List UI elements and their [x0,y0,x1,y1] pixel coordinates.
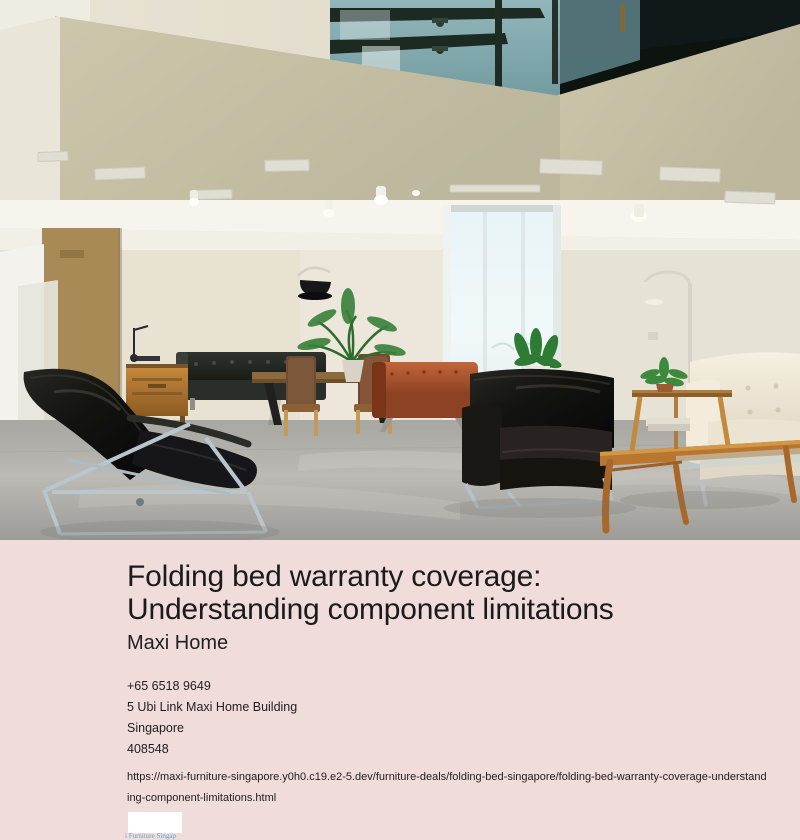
contact-city: Singapore [127,718,747,739]
hero-photo [0,0,800,540]
content-area: Folding bed warranty coverage: Understan… [0,540,800,840]
page-root: Folding bed warranty coverage: Understan… [0,0,800,840]
contact-phone[interactable]: +65 6518 9649 [127,676,747,697]
contact-address: 5 Ubi Link Maxi Home Building [127,697,747,718]
page-url[interactable]: https://maxi-furniture-singapore.y0h0.c1… [127,767,767,809]
showroom-illustration [0,0,800,540]
contact-block: +65 6518 9649 5 Ubi Link Maxi Home Build… [127,676,747,809]
footer-thumbnail-card[interactable] [128,812,182,833]
brand-name: Maxi Home [127,632,228,655]
footer-thumbnail-caption: i Furniture Singap [125,832,195,840]
contact-postal-code: 408548 [127,739,747,760]
page-title: Folding bed warranty coverage: Understan… [127,560,727,626]
